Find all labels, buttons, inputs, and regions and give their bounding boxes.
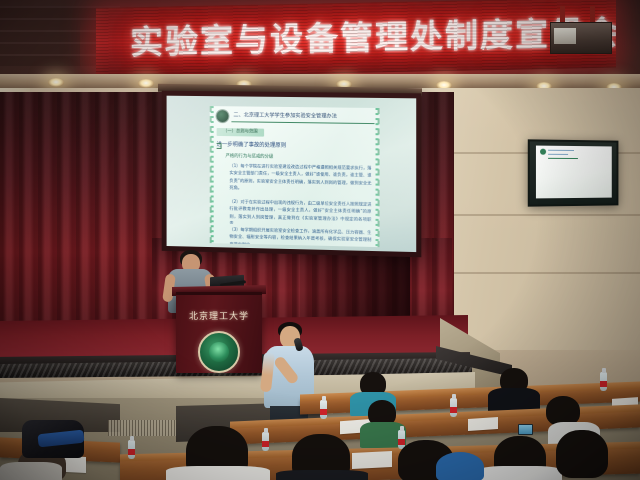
audience-member <box>556 430 608 478</box>
smartphone-screen <box>518 424 533 435</box>
university-seal-icon <box>217 110 229 122</box>
slide-border-dots <box>211 106 214 243</box>
water-bottle <box>450 398 457 417</box>
paper-handout <box>352 451 392 469</box>
water-bottle <box>600 372 607 391</box>
downlight <box>48 78 64 87</box>
lecture-hall-photo: 实验室与设备管理处制度宣贯会 二、北京理工大学学生参加实验安全管理办法 <box>0 0 640 480</box>
display-logo-icon <box>540 149 546 155</box>
slide-border-dots <box>376 108 379 247</box>
lectern-label: 北京理工大学 <box>176 309 262 322</box>
audience-member-cap <box>436 452 484 480</box>
audience-member-torso <box>276 470 368 480</box>
water-bottle <box>128 440 135 459</box>
downlight <box>138 79 154 88</box>
projection-screen-surface: 二、北京理工大学学生参加实验安全管理办法 （一）总则与范围 进一步明确了事故的处… <box>167 96 417 252</box>
water-bottle <box>320 400 327 419</box>
audience-member-torso <box>0 462 62 480</box>
paper-handout <box>468 417 498 431</box>
audience-member-torso <box>478 466 562 480</box>
projector-lens-icon <box>554 28 576 44</box>
stage-curtain-left <box>0 92 176 327</box>
slide-bullet-sub: 严格的行为与惩戒的分级 <box>225 153 373 162</box>
slide-bullet-main: 进一步明确了事故的处理原则 <box>217 141 374 151</box>
display-text-line <box>548 158 578 159</box>
wall-vent-grill <box>108 420 176 436</box>
slide-paragraph: （1）每个学院在进行实验室建设改造过程中严格遵照相关规范要求执行，落实安全主管部… <box>229 162 371 199</box>
ceiling-projector <box>544 6 618 60</box>
lectern: 北京理工大学 <box>176 292 262 373</box>
wall-display-screen <box>536 146 612 199</box>
projection-screen: 二、北京理工大学学生参加实验安全管理办法 （一）总则与范围 进一步明确了事故的处… <box>162 91 422 258</box>
led-banner: 实验室与设备管理处制度宣贯会 <box>96 0 616 78</box>
display-text-line <box>548 154 568 155</box>
display-text-line <box>548 150 574 151</box>
audience-member-torso <box>166 466 270 480</box>
wall-mounted-display <box>528 139 619 206</box>
slide-paragraph: （2）对于在实验过程中出现的违规行为，由二级单位安全责任人按照规定进行批评教育并… <box>229 198 371 227</box>
slide-title: 二、北京理工大学学生参加实验安全管理办法 <box>233 111 373 122</box>
water-bottle <box>262 432 269 451</box>
slide-paragraph: （3）每学期组织开展实验室安全检查工作，涵盖所有化学品、压力容器、生物安全、辐射… <box>229 226 371 247</box>
presentation-slide: 二、北京理工大学学生参加实验安全管理办法 （一）总则与范围 进一步明确了事故的处… <box>210 106 380 247</box>
university-seal-icon <box>198 331 240 373</box>
slide-section-tag: （一）总则与范围 <box>217 128 264 137</box>
